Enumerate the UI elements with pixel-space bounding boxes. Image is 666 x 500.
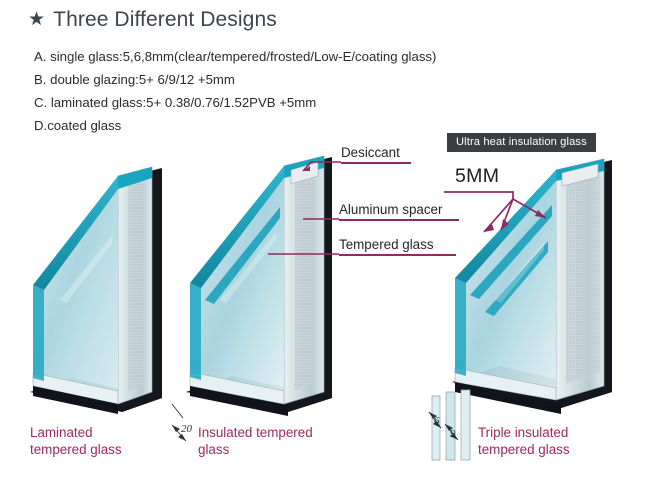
panel-insulated-double: 20: [172, 156, 332, 441]
panel-caption-triple: Triple insulated tempered glass: [478, 424, 570, 458]
callout-tempered-glass-label: Tempered glass: [339, 237, 456, 254]
callout-desiccant: Desiccant: [341, 145, 411, 164]
panel2-teal-edge-left: [190, 283, 201, 380]
panel3-spacer-strip-2: [588, 171, 600, 379]
callout-aluminum-spacer: Aluminum spacer: [339, 202, 459, 221]
callout-desiccant-underline: [341, 162, 411, 164]
callout-desiccant-label: Desiccant: [341, 145, 411, 162]
dimension-value-9: 9: [450, 428, 456, 440]
panel2-dimension-20: 20: [172, 404, 193, 441]
panel3-teal-edge-left: [455, 278, 466, 376]
callout-aluminum-spacer-label: Aluminum spacer: [339, 202, 459, 219]
panel1-spacer-strip: [128, 181, 144, 392]
callout-tempered-glass-underline: [339, 254, 456, 256]
dimension-value-20: 20: [181, 423, 193, 435]
panel1-teal-edge-left: [33, 285, 44, 381]
panel2-spacer-strip: [295, 171, 314, 391]
panel3-spacer-strip-1: [566, 176, 584, 384]
panel3-glass-face: [455, 170, 556, 400]
panel-caption-insulated: Insulated tempered glass: [198, 424, 313, 458]
panel3-dimension-6: 6: [429, 412, 441, 428]
callout-tempered-glass: Tempered glass: [339, 237, 456, 256]
thickness-label-5mm: 5MM: [455, 165, 499, 188]
callout-aluminum-spacer-underline: [339, 219, 459, 221]
diagram-canvas: ★ Three Different Designs A. single glas…: [0, 0, 666, 500]
leader-5mm-main: [444, 192, 513, 199]
panel-caption-laminated: Laminated tempered glass: [30, 424, 122, 458]
dimension-value-6: 6: [434, 415, 440, 427]
status-badge: Ultra heat insulation glass: [447, 133, 596, 152]
panel-laminated: [30, 167, 162, 414]
